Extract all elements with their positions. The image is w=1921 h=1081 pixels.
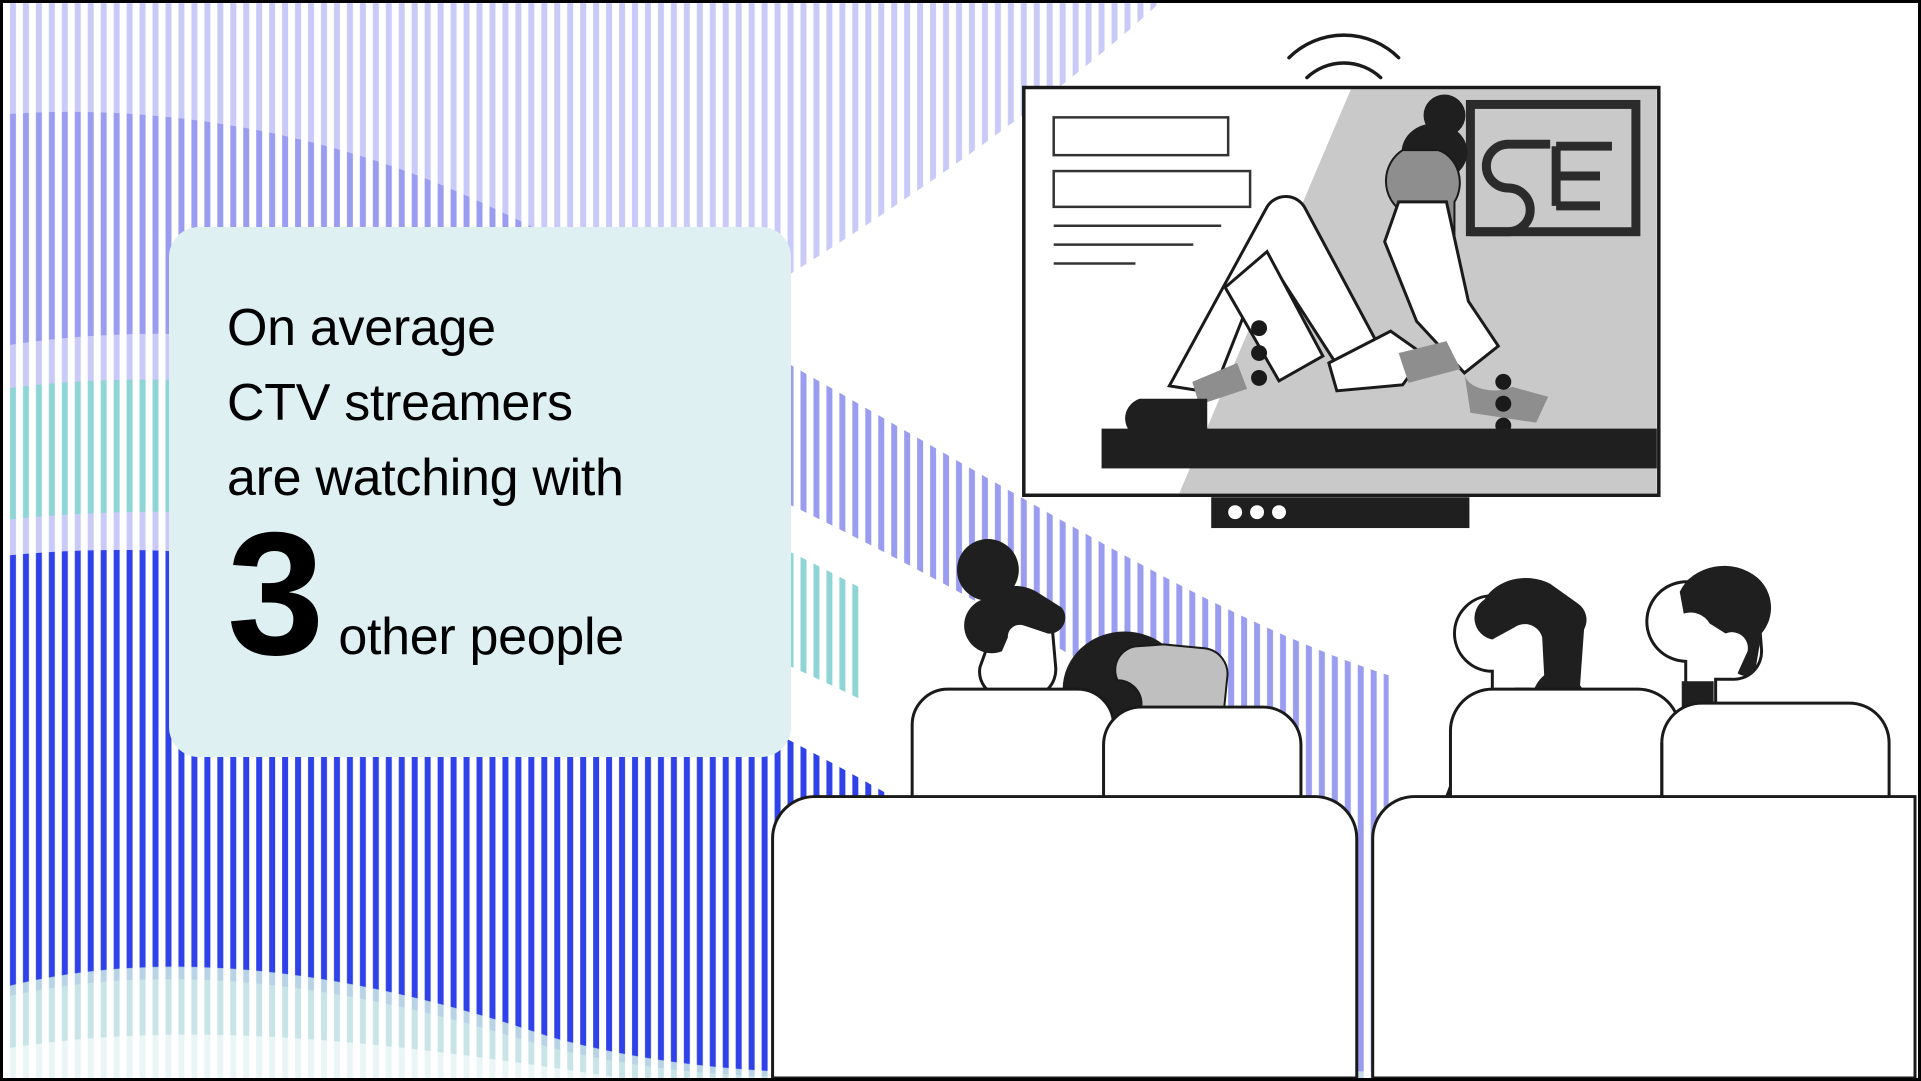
stat-line-1: On average	[227, 291, 791, 366]
tv-indicator-dots	[1228, 505, 1286, 519]
stat-big-number: 3	[227, 520, 320, 670]
stat-card: On average CTV streamers are watching wi…	[169, 227, 791, 757]
sofa-left-base	[773, 797, 1357, 1078]
tv-placeholder-box-2	[1054, 171, 1250, 207]
tv-person-buttons	[1251, 320, 1267, 386]
sofa-right-base	[1373, 797, 1915, 1078]
stat-line-2: CTV streamers	[227, 366, 791, 441]
tv-person-buttons-2	[1495, 374, 1511, 434]
infographic-canvas: On average CTV streamers are watching wi…	[0, 0, 1921, 1081]
stat-number-row: 3 other people	[227, 520, 791, 670]
audience-right-group	[1373, 566, 1915, 1078]
tv-placeholder-box-1	[1054, 117, 1228, 155]
stat-suffix-label: other people	[338, 607, 624, 667]
tv-floor-bar	[1102, 429, 1659, 469]
tv-set	[1024, 88, 1659, 529]
tv-control-bar	[1211, 497, 1469, 528]
audience-left-group	[773, 539, 1357, 1078]
